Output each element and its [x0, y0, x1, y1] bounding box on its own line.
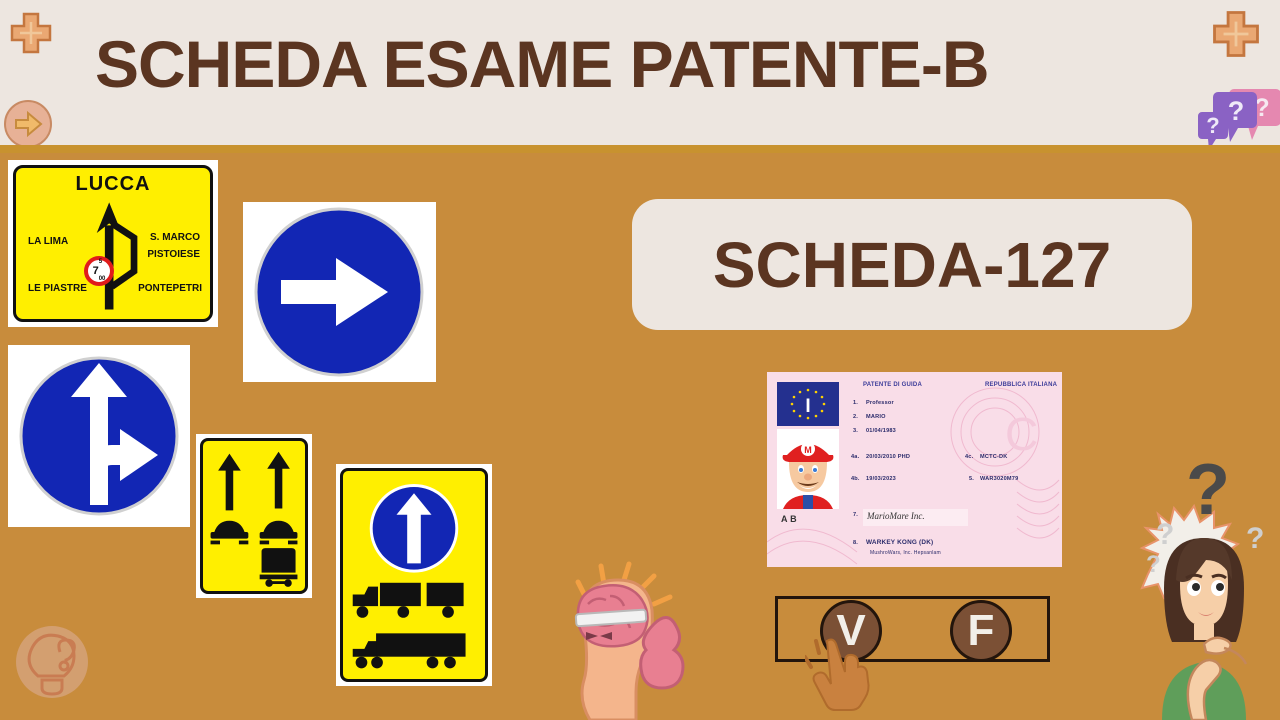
licence-field-num-2: 2.	[853, 414, 858, 420]
licence-field-number: WAR3020M79	[980, 476, 1018, 482]
weight-limit-sign: 7500	[84, 256, 114, 286]
header-divider	[0, 145, 1280, 153]
lucca-label-pontepetri: PONTEPETRI	[138, 283, 202, 294]
lane-usage-cars-trucks-sign	[200, 438, 308, 594]
mandatory-direction-right-sign	[243, 202, 436, 382]
svg-text:C: C	[1005, 408, 1038, 460]
licence-field-num-3: 3.	[853, 428, 858, 434]
licence-field-num-5: 5.	[969, 476, 974, 482]
licence-field-num-4b: 4b.	[851, 476, 860, 482]
licence-field-categories: A B	[781, 514, 797, 524]
licence-field-num-1: 1.	[853, 400, 858, 406]
lightbulb-question-icon	[8, 618, 96, 711]
sign-panel-straight-or-right	[8, 345, 190, 527]
trucks-straight-ahead-sign	[340, 468, 488, 682]
weight-limit-sub: 00	[99, 276, 106, 282]
eu-flag-icon: I	[777, 382, 839, 426]
mandatory-straight-or-right-sign	[8, 345, 190, 527]
svg-text:?: ?	[1146, 551, 1161, 578]
plus-icon	[8, 10, 54, 56]
sign-panel-mandatory-right	[243, 202, 436, 382]
licence-field-firstname: MARIO	[866, 414, 886, 420]
svg-text:?: ?	[1156, 518, 1174, 551]
scheda-number-label: SCHEDA-127	[713, 228, 1111, 302]
licence-photo-mario: M	[777, 429, 839, 509]
licence-field-residence: WARKEY KONG (DK)	[866, 539, 933, 546]
licence-field-authority: MCTC-DK	[980, 454, 1008, 460]
licence-field-num-4a: 4a.	[851, 454, 859, 460]
lucca-label-le-piastre: LE PIASTRE	[28, 283, 87, 294]
weight-limit-sup: 5	[99, 259, 102, 265]
flexing-brain-illustration	[570, 556, 720, 720]
lane-usage-pictogram	[203, 441, 305, 591]
page-title: SCHEDA ESAME PATENTE-B	[95, 26, 989, 102]
italian-driving-licence-card: C I M	[767, 372, 1062, 567]
licence-field-birthdate: 01/04/1983	[866, 428, 896, 434]
svg-text:?: ?	[1186, 450, 1230, 530]
flag-country-letter: I	[805, 396, 810, 417]
svg-text:?: ?	[1228, 96, 1245, 126]
licence-signature: MarioMare Inc.	[867, 511, 925, 521]
lucca-label-pistoiese: PISTOIESE	[147, 249, 200, 260]
svg-text:M: M	[804, 445, 812, 455]
licence-field-issue-date: 20/03/2010 PHD	[866, 454, 910, 460]
pointing-hand-cursor	[805, 625, 875, 720]
svg-text:?: ?	[1246, 522, 1264, 555]
licence-field-num-7: 7.	[853, 512, 858, 518]
lucca-label-la-lima: LA LIMA	[28, 236, 68, 247]
licence-field-surname: Professor	[866, 400, 894, 406]
trucks-straight-pictogram	[343, 471, 485, 679]
licence-field-num-8: 8.	[853, 540, 858, 546]
sign-panel-trucks-straight	[336, 464, 492, 686]
header-bar: SCHEDA ESAME PATENTE-B ? ? ?	[0, 0, 1280, 145]
sign-panel-lucca: LUCCA 7500 LA LIMA S. MARCO PISTOIESE LE…	[8, 160, 218, 327]
licence-field-expiry-date: 19/03/2023	[866, 476, 896, 482]
licence-field-residence-detail: MushroWars, Inc. Hepsanlam	[870, 550, 941, 556]
sign-panel-lane-usage	[196, 434, 312, 598]
licence-header-left: PATENTE DI GUIDA	[863, 382, 922, 388]
plus-icon	[1210, 8, 1262, 60]
direction-sign-lucca: LUCCA 7500 LA LIMA S. MARCO PISTOIESE LE…	[13, 165, 213, 322]
thinking-woman-illustration: ? ? ? ?	[1128, 448, 1280, 720]
licence-field-num-4c: 4c.	[965, 454, 973, 460]
svg-text:?: ?	[1206, 113, 1219, 138]
lucca-label-s-marco: S. MARCO	[150, 232, 200, 243]
licence-header-right: REPUBBLICA ITALIANA	[985, 382, 1057, 388]
answer-option-false[interactable]: F	[950, 600, 1012, 662]
scheda-number-badge: SCHEDA-127	[632, 199, 1192, 330]
